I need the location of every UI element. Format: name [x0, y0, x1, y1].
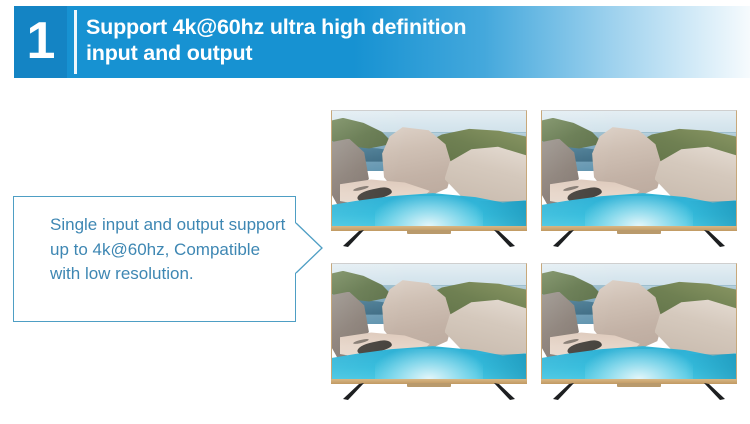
callout-pointer-arrow — [294, 222, 324, 274]
tv-chin-detail — [407, 230, 451, 234]
tv-screen — [541, 110, 737, 226]
tv-leg-right — [703, 383, 725, 400]
beach-photo — [332, 111, 526, 226]
tv-display-bottom-right — [541, 263, 737, 396]
surf-foam — [585, 349, 694, 379]
header-divider — [74, 10, 77, 74]
page-title-line-1: Support 4k@60hz ultra high definition — [86, 14, 696, 40]
tv-leg-right — [493, 383, 515, 400]
tv-leg-left — [343, 383, 365, 400]
tv-chin-detail — [617, 230, 661, 234]
callout-text: Single input and output support up to 4k… — [50, 213, 290, 287]
surf-foam — [375, 349, 484, 379]
header-number-text: 1 — [27, 15, 55, 67]
tv-leg-right — [493, 230, 515, 247]
page-title: Support 4k@60hz ultra high definition in… — [86, 14, 696, 66]
tv-leg-left — [553, 383, 575, 400]
callout-box: Single input and output support up to 4k… — [13, 196, 296, 322]
beach-photo — [542, 264, 736, 379]
beach-photo — [542, 111, 736, 226]
tv-leg-left — [343, 230, 365, 247]
deep-water-edge — [476, 354, 526, 379]
deep-water-edge — [686, 354, 736, 379]
tv-display-bottom-left — [331, 263, 527, 396]
beach-photo — [332, 264, 526, 379]
tv-display-top-right — [541, 110, 737, 243]
tv-screen — [331, 263, 527, 379]
tv-leg-left — [553, 230, 575, 247]
tv-display-top-left — [331, 110, 527, 243]
tv-screen — [541, 263, 737, 379]
tv-chin-detail — [407, 383, 451, 387]
header-number-badge: 1 — [14, 6, 67, 78]
surf-foam — [585, 196, 694, 226]
page-title-line-2: input and output — [86, 40, 696, 66]
tv-screen — [331, 110, 527, 226]
tv-chin-detail — [617, 383, 661, 387]
deep-water-edge — [686, 201, 736, 226]
tv-leg-right — [703, 230, 725, 247]
header-banner: 1 Support 4k@60hz ultra high definition … — [0, 6, 750, 78]
deep-water-edge — [476, 201, 526, 226]
surf-foam — [375, 196, 484, 226]
tv-grid — [331, 110, 741, 400]
